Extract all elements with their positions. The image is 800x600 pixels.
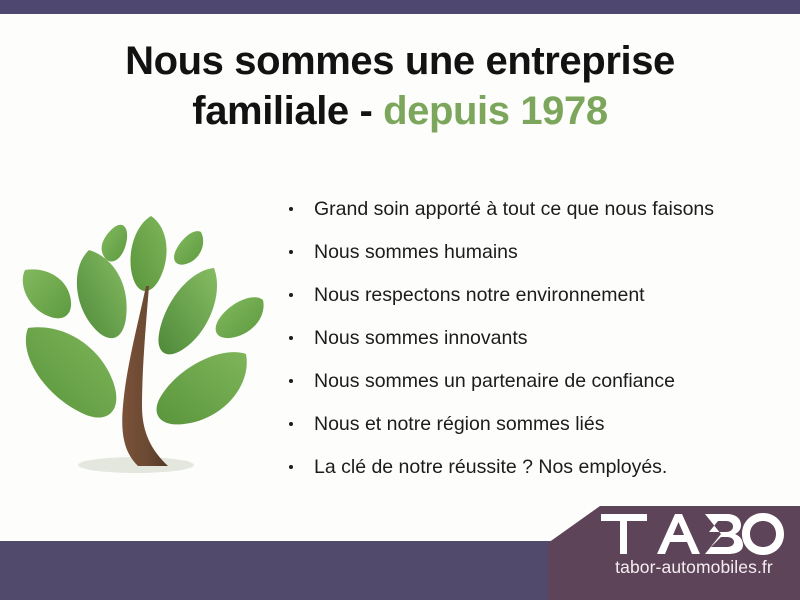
tabor-wordmark-icon [601,512,787,556]
tree-illustration [18,182,270,482]
headline-line-2-accent: depuis 1978 [383,89,608,133]
headline-line-2-plain: familiale - [192,89,383,133]
bullet-dot-icon [289,422,293,426]
list-item: Grand soin apporté à tout ce que nous fa… [286,194,766,237]
list-item: Nous respectons notre environnement [286,280,766,323]
bullet-dot-icon [289,465,293,469]
list-item: La clé de notre réussite ? Nos employés. [286,452,766,495]
list-item-label: Nous sommes un partenaire de confiance [314,370,675,392]
headline-line-1: Nous sommes une entreprise [125,39,675,83]
top-brand-bar [0,0,800,14]
logo-url-text: tabor-automobiles.fr [615,559,773,577]
list-item-label: Grand soin apporté à tout ce que nous fa… [314,198,714,220]
list-item-label: Nous et notre région sommes liés [314,413,604,435]
bullet-dot-icon [289,250,293,254]
list-item-label: Nous sommes innovants [314,327,528,349]
bullet-dot-icon [289,379,293,383]
list-item: Nous et notre région sommes liés [286,409,766,452]
page-title: Nous sommes une entreprise familiale - d… [50,36,750,136]
list-item-label: Nous sommes humains [314,241,518,263]
slide-canvas: Nous sommes une entreprise familiale - d… [0,0,800,600]
bullet-dot-icon [289,293,293,297]
brand-logo[interactable]: tabor-automobiles.fr [596,512,792,588]
list-item-label: La clé de notre réussite ? Nos employés. [314,456,667,478]
tree-trunk [122,286,168,466]
bullet-dot-icon [289,336,293,340]
list-item: Nous sommes humains [286,237,766,280]
list-item-label: Nous respectons notre environnement [314,284,645,306]
list-item: Nous sommes innovants [286,323,766,366]
value-bullet-list: Grand soin apporté à tout ce que nous fa… [286,194,766,495]
list-item: Nous sommes un partenaire de confiance [286,366,766,409]
bullet-dot-icon [289,207,293,211]
